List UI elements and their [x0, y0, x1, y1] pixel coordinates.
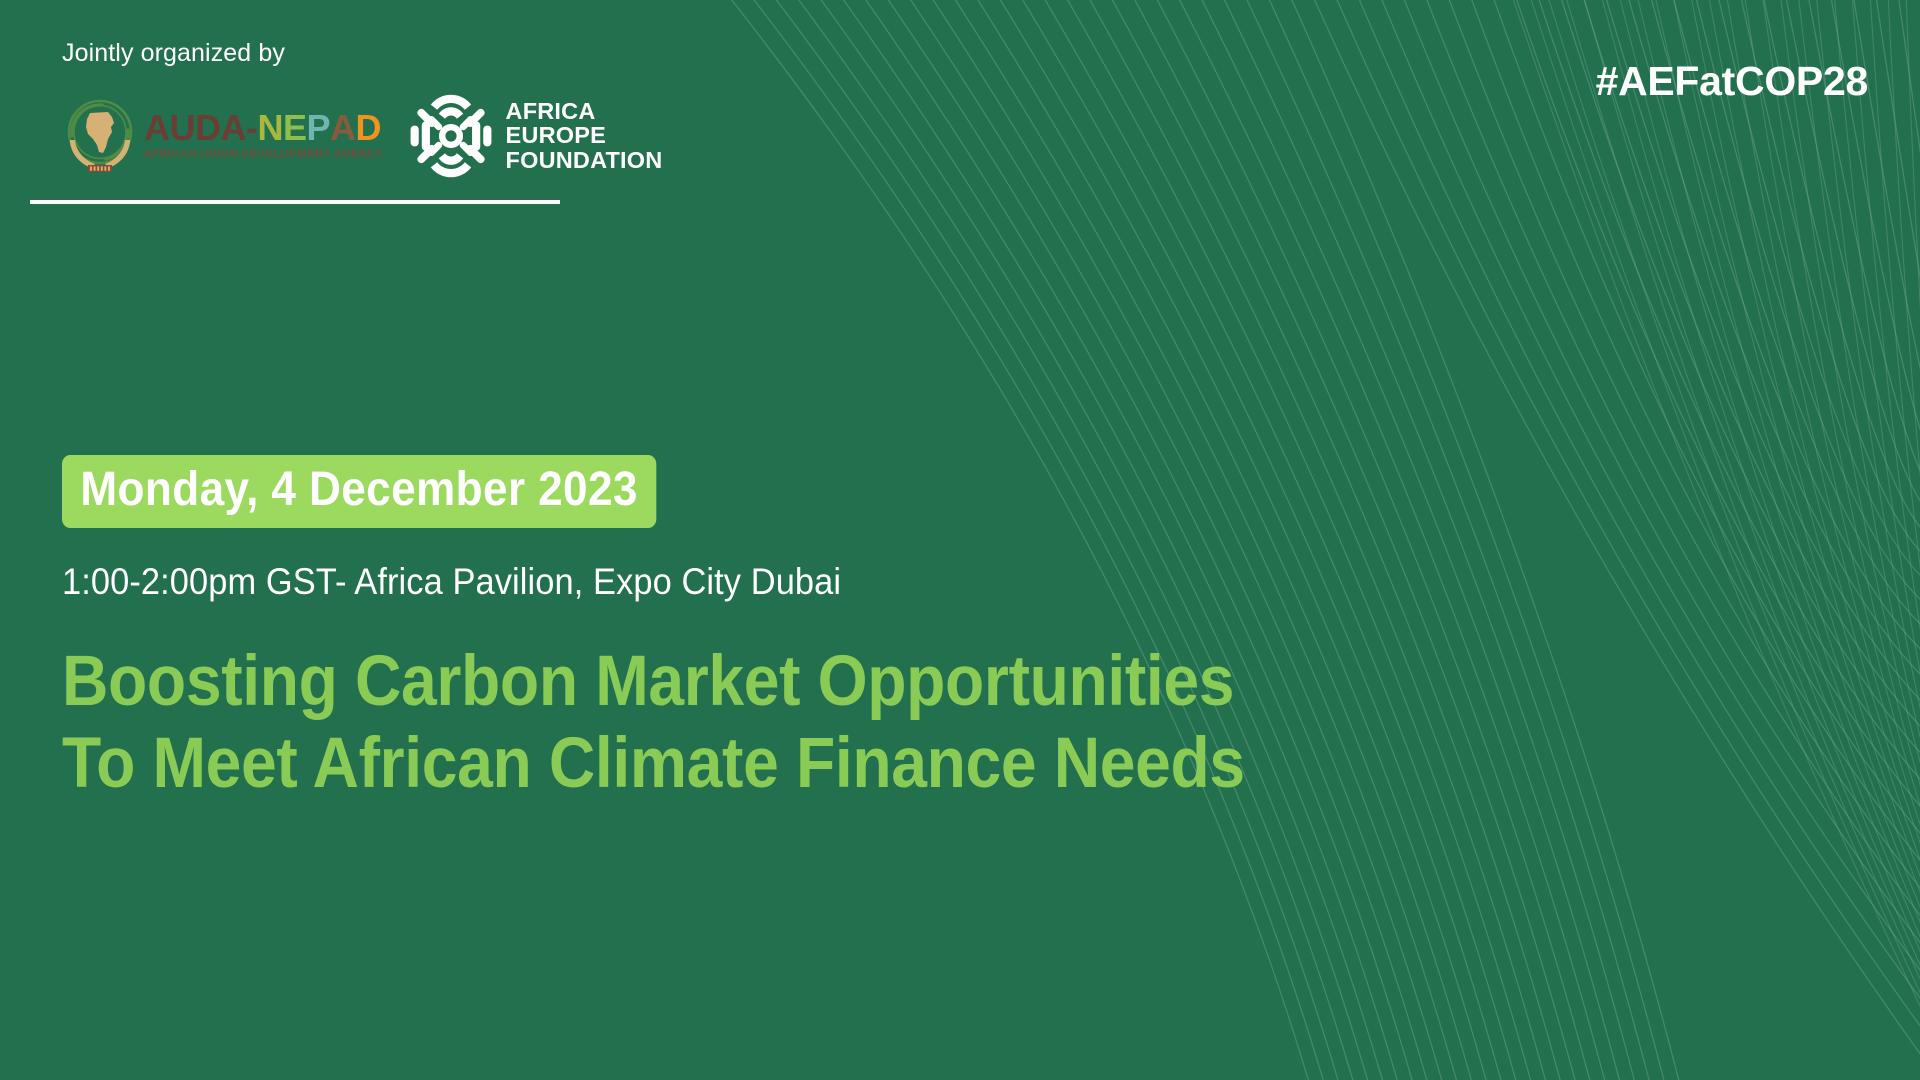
auda-letter-3: A	[221, 110, 247, 146]
auda-letter-7: P	[307, 110, 331, 146]
event-time-location: 1:00-2:00pm GST- Africa Pavilion, Expo C…	[62, 562, 1699, 603]
event-date-badge: Monday, 4 December 2023	[62, 455, 656, 528]
auda-letter-1: U	[170, 110, 196, 146]
africa-europe-foundation-logo: AFRICA EUROPE FOUNDATION	[408, 94, 663, 178]
arc-line	[1893, 0, 1920, 436]
arc-line	[1850, 0, 1920, 892]
auda-letter-6: E	[283, 110, 307, 146]
event-title-line-2: To Meet African Climate Finance Needs	[62, 723, 1655, 805]
auda-nepad-emblem-icon	[62, 96, 138, 176]
organizer-divider	[30, 200, 560, 204]
auda-nepad-title: AUDA-NEPAD	[144, 110, 384, 146]
arc-line	[1916, 0, 1920, 423]
arc-line	[1868, 0, 1920, 880]
auda-nepad-logo: AUDA-NEPAD AFRICAN UNION DEVELOPMENT AGE…	[62, 94, 384, 178]
logo-row: AUDA-NEPAD AFRICAN UNION DEVELOPMENT AGE…	[62, 94, 722, 178]
aef-emblem-icon	[408, 93, 494, 179]
hashtag-label: #AEFatCOP28	[1596, 58, 1868, 105]
auda-letter-4: -	[246, 110, 258, 146]
arc-line	[1905, 0, 1920, 856]
arc-line	[1886, 0, 1920, 868]
aef-wordmark-line-3: FOUNDATION	[506, 148, 663, 172]
aef-wordmark: AFRICA EUROPE FOUNDATION	[506, 99, 663, 172]
event-title-line-1: Boosting Carbon Market Opportunities	[62, 641, 1655, 723]
aef-wordmark-line-2: EUROPE	[506, 123, 663, 147]
event-title: Boosting Carbon Market Opportunities To …	[62, 641, 1655, 806]
auda-letter-2: D	[195, 110, 221, 146]
auda-letter-0: A	[144, 110, 170, 146]
arc-line	[1831, 0, 1920, 904]
aef-wordmark-line-1: AFRICA	[506, 99, 663, 123]
auda-nepad-wordmark: AUDA-NEPAD AFRICAN UNION DEVELOPMENT AGE…	[144, 99, 384, 173]
organizer-block: Jointly organized by	[62, 40, 722, 178]
auda-letter-8: A	[330, 110, 356, 146]
arc-line	[1871, 0, 1920, 451]
event-poster: Jointly organized by	[0, 0, 1920, 1080]
date-badge-wrapper: Monday, 4 December 2023	[62, 455, 1822, 528]
organizer-label: Jointly organized by	[62, 40, 722, 68]
arc-line	[1813, 0, 1920, 916]
auda-nepad-tagline: AFRICAN UNION DEVELOPMENT AGENCY	[144, 149, 384, 160]
auda-letter-5: N	[258, 110, 284, 146]
main-content: Monday, 4 December 2023 1:00-2:00pm GST-…	[62, 455, 1822, 805]
auda-letter-9: D	[356, 110, 382, 146]
